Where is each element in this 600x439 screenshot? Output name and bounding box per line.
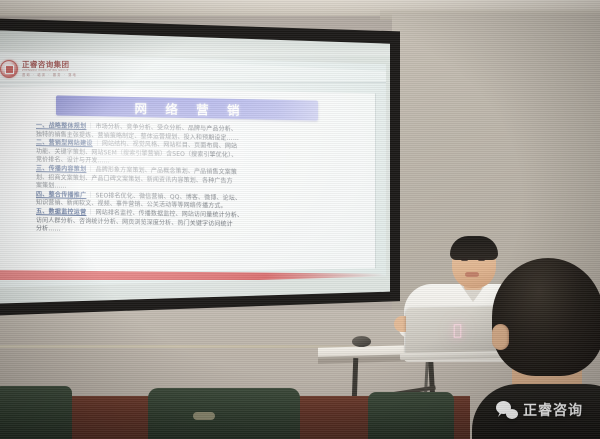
- presenter-hair: [450, 236, 498, 260]
- lecture-room-photo: 正睿咨询集团 ZHENGRUI CONSULTING GROUP 咨询 · 培训…: [0, 0, 600, 439]
- slide-line-heading: 二、营销型网站建设: [36, 139, 93, 147]
- company-logo-text: 正睿咨询集团 ZHENGRUI CONSULTING GROUP 咨询 · 培训…: [22, 61, 77, 77]
- slide-line-separator: ｜: [86, 192, 95, 199]
- slide-line-separator: ｜: [86, 166, 95, 173]
- watermark: 正睿咨询: [496, 400, 583, 420]
- slide-line-separator: ｜: [86, 123, 95, 130]
- slide-line-body: 分析……: [36, 225, 61, 232]
- slide-line-body: 案策划……: [36, 182, 67, 190]
- slide-line-separator: ｜: [93, 140, 102, 147]
- slide-line-heading: 一、战略整体规划: [36, 122, 86, 130]
- slide-title-text: 网 络 营 销: [127, 97, 246, 118]
- slide-line-heading: 四、整合传播推广: [36, 191, 86, 199]
- chair-badge: [193, 412, 215, 420]
- audience-hair: [492, 258, 600, 376]
- square-seal-icon: [0, 60, 18, 78]
- slide-line-heading: 五、数据监控运营: [36, 208, 86, 216]
- wechat-icon: [496, 401, 518, 419]
- company-logo: 正睿咨询集团 ZHENGRUI CONSULTING GROUP 咨询 · 培训…: [0, 60, 77, 78]
- slide-line-separator: ｜: [86, 209, 95, 216]
- presenter-eye-right: [478, 258, 485, 261]
- watermark-text: 正睿咨询: [523, 400, 583, 420]
- company-name-cn: 正睿咨询集团: [22, 61, 77, 69]
- presenter-mouth: [465, 272, 479, 277]
- company-tagline: 咨询 · 培训 · 服务 · 落地: [22, 74, 77, 77]
- slide-body-text: 一、战略整体规划｜市场分析、竞争分析、受众分析、品牌与产品分析、独特的销售主张提…: [36, 122, 338, 240]
- slide-line-body: 竞价排名、设计与开发……: [36, 156, 110, 164]
- chair: [368, 392, 454, 439]
- chair: [0, 386, 72, 439]
- audience-ear: [492, 324, 509, 350]
- computer-mouse: [352, 336, 371, 347]
- presenter-eye-left: [461, 258, 468, 261]
- chair: [148, 388, 300, 439]
- apple-logo-icon: : [450, 323, 465, 339]
- slide-line-heading: 三、传播内容策划: [36, 165, 86, 173]
